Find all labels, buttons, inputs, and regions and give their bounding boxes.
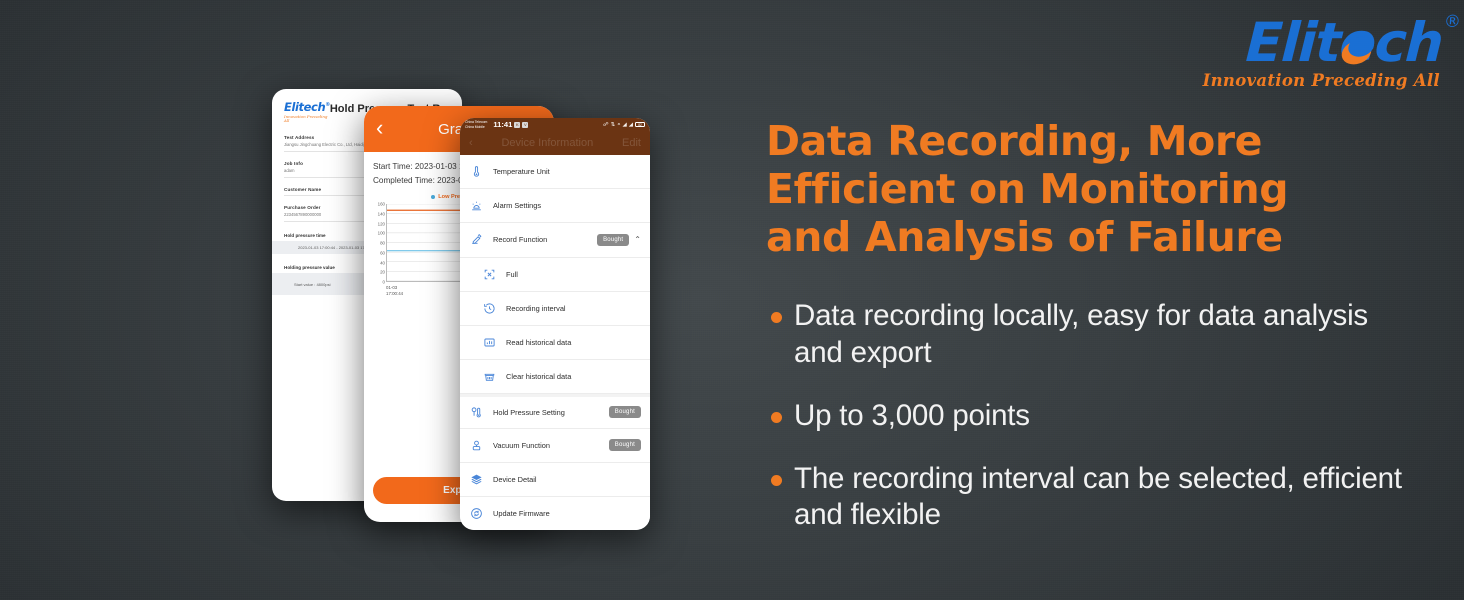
marketing-copy: Data Recording, More Efficient on Monito…	[766, 118, 1416, 534]
menu-item-device-detail[interactable]: Device Detail	[460, 463, 650, 497]
menu-item-alarm-settings[interactable]: Alarm Settings	[460, 189, 650, 223]
report-logo: Elitech® Innovation Preceding All	[284, 102, 330, 123]
menu-item-record-function[interactable]: Record FunctionBought⌃	[460, 223, 650, 257]
menu-item-temperature-unit[interactable]: Temperature Unit	[460, 155, 650, 189]
list-item: Data recording locally, easy for data an…	[766, 298, 1416, 372]
list-item: Up to 3,000 points	[766, 398, 1416, 435]
chevron-right-icon[interactable]: ⌃	[634, 236, 641, 244]
menu-item-update-firmware[interactable]: Update Firmware	[460, 497, 650, 530]
menu-item-read-historical-data[interactable]: Read historical data	[460, 326, 650, 360]
vacuum-pump-icon	[469, 438, 484, 453]
brand-logo: Elitech ® Innovation Preceding All	[1203, 16, 1442, 90]
alarm-icon	[469, 198, 484, 213]
carrier-line-2: China Mobile	[465, 125, 487, 129]
battery-icon: 82	[635, 122, 645, 128]
carrier-line-1: China Telecom	[465, 120, 487, 124]
status-chip-icon: K	[514, 122, 520, 128]
banner-root: Elitech ® Innovation Preceding All Data …	[0, 0, 1464, 600]
layers-icon	[469, 472, 484, 487]
brand-wordmark: Elitech ®	[1244, 16, 1443, 70]
brand-tagline: Innovation Preceding All	[1203, 73, 1440, 90]
y-axis-tick-label: 100	[378, 231, 385, 236]
chart-y-axis: 160140120100806040200	[373, 204, 386, 282]
menu-item-label: Hold Pressure Setting	[493, 408, 565, 417]
status-chip-icon: V	[522, 122, 528, 128]
menu-item-label: Read historical data	[506, 338, 571, 347]
y-axis-tick-label: 120	[378, 221, 385, 226]
y-axis-tick-label: 40	[380, 260, 385, 265]
fullscreen-icon	[482, 267, 497, 282]
bullet-dot-icon	[771, 412, 782, 423]
bluetooth-icon: ☍	[603, 122, 609, 128]
y-axis-tick-label: 0	[383, 280, 385, 285]
headline-line-1: Data Recording, More	[766, 118, 1416, 166]
bullet-dot-icon	[771, 475, 782, 486]
wifi-icon: ◓	[617, 122, 620, 128]
record-pen-icon	[469, 232, 484, 247]
status-badge: Bought	[609, 406, 641, 418]
menu-item-hold-pressure-setting[interactable]: Hold Pressure SettingBought	[460, 394, 650, 428]
brand-wordmark-text: Elitech	[1244, 11, 1444, 74]
signal-icon: ◢	[623, 122, 627, 128]
phone-mockup-group: Elitech® Innovation Preceding All Hold P…	[262, 84, 662, 544]
bullet-dot-icon	[771, 312, 782, 323]
dim-edit-label: Edit	[622, 137, 641, 149]
y-axis-tick-label: 80	[380, 241, 385, 246]
menu-item-label: Record Function	[493, 235, 547, 244]
data-rate-icon: ⇅	[611, 122, 616, 128]
headline-line-3: and Analysis of Failure	[766, 214, 1416, 262]
page-title: Data Recording, More Efficient on Monito…	[766, 118, 1416, 262]
menu-item-label: Temperature Unit	[493, 167, 550, 176]
y-axis-tick-label: 60	[380, 250, 385, 255]
broom-icon	[482, 369, 497, 384]
refresh-circle-icon	[469, 506, 484, 521]
x-axis-tick-label: 01-0317:00:44	[386, 285, 403, 297]
menu-item-vacuum-function[interactable]: Vacuum FunctionBought	[460, 429, 650, 463]
dim-title: Device Information	[501, 137, 593, 149]
menu-item-label: Clear historical data	[506, 372, 571, 381]
status-badge: Bought	[609, 439, 641, 451]
menu-item-recording-interval[interactable]: Recording interval	[460, 292, 650, 326]
headline-line-2: Efficient on Monitoring	[766, 166, 1416, 214]
menu-item-label: Device Detail	[493, 475, 537, 484]
bullet-text: Data recording locally, easy for data an…	[794, 299, 1368, 369]
chart-bar-icon	[482, 335, 497, 350]
legend-marker-icon	[431, 195, 435, 199]
dim-back-icon: ‹	[469, 137, 473, 149]
bullet-text: The recording interval can be selected, …	[794, 462, 1402, 532]
menu-item-label: Update Firmware	[493, 509, 550, 518]
clock-history-icon	[482, 301, 497, 316]
settings-menu-list: Temperature UnitAlarm SettingsRecord Fun…	[460, 155, 650, 530]
dimmed-page-header: ‹ Device Information Edit	[460, 131, 650, 155]
menu-item-clear-historical-data[interactable]: Clear historical data	[460, 360, 650, 394]
menu-item-full[interactable]: Full	[460, 258, 650, 292]
registered-mark: ®	[1443, 14, 1459, 31]
phone-menu-screen: China Telecom China Mobile 11:41 K V ☍ ⇅…	[460, 118, 650, 530]
status-badge: Bought	[597, 234, 629, 246]
report-start-value: Start value : 4800psi	[294, 282, 330, 287]
report-logo-tagline: Innovation Preceding All	[284, 115, 330, 123]
menu-item-label: Recording interval	[506, 304, 566, 313]
y-axis-tick-label: 20	[380, 270, 385, 275]
pressure-gauge-icon	[469, 405, 484, 420]
status-clock: 11:41	[493, 120, 512, 129]
y-axis-tick-label: 160	[378, 202, 385, 207]
menu-item-label: Vacuum Function	[493, 441, 550, 450]
status-bar: China Telecom China Mobile 11:41 K V ☍ ⇅…	[460, 118, 650, 131]
carrier-label: China Telecom China Mobile	[465, 120, 487, 129]
feature-bullet-list: Data recording locally, easy for data an…	[766, 298, 1416, 534]
thermometer-icon	[469, 164, 484, 179]
y-axis-tick-label: 140	[378, 211, 385, 216]
list-item: The recording interval can be selected, …	[766, 461, 1416, 535]
report-logo-text: Elitech®	[284, 102, 330, 114]
menu-item-label: Alarm Settings	[493, 201, 541, 210]
bullet-text: Up to 3,000 points	[794, 399, 1030, 432]
menu-item-label: Full	[506, 270, 518, 279]
signal-icon: ◢	[629, 122, 633, 128]
